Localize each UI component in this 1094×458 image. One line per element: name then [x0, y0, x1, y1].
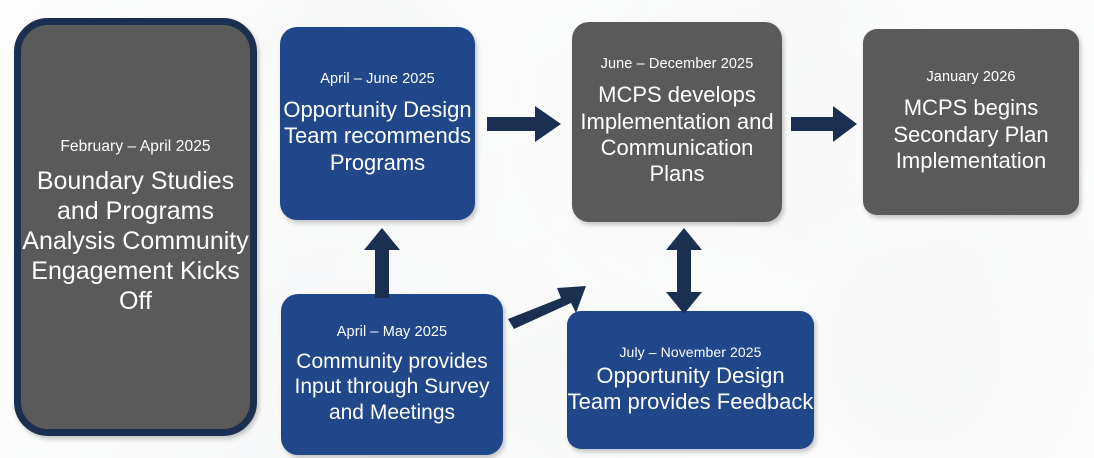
node-date-label: April – May 2025: [337, 324, 447, 341]
node-body-text: Community provides Input through Survey …: [281, 349, 503, 425]
arrow-right-icon-mcps-to-begins: [791, 103, 859, 145]
node-date-label: January 2026: [926, 69, 1015, 86]
node-boundary-studies-kickoff[interactable]: February – April 2025 Boundary Studies a…: [14, 18, 257, 436]
arrow-up-down-icon-mcps-to-feedback: [664, 228, 704, 314]
node-body-text: MCPS begins Secondary Plan Implementatio…: [863, 95, 1079, 174]
node-date-label: April – June 2025: [320, 71, 435, 88]
node-odt-provides-feedback[interactable]: July – November 2025 Opportunity Design …: [567, 311, 814, 449]
node-body-text: Boundary Studies and Programs Analysis C…: [21, 166, 250, 316]
arrow-diagonal-up-right-icon-input-to-feedback: [506, 281, 588, 331]
timeline-diagram: February – April 2025 Boundary Studies a…: [0, 0, 1094, 458]
node-mcps-begins-implementation[interactable]: January 2026 MCPS begins Secondary Plan …: [863, 29, 1079, 215]
arrow-up-icon-input-to-odt: [362, 228, 402, 300]
node-body-text: Opportunity Design Team provides Feedbac…: [567, 363, 814, 416]
node-date-label: February – April 2025: [60, 138, 210, 156]
node-body-text: Opportunity Design Team recommends Progr…: [280, 97, 475, 176]
node-community-provides-input[interactable]: April – May 2025 Community provides Inpu…: [281, 294, 503, 455]
node-date-label: July – November 2025: [619, 344, 761, 361]
arrow-right-icon-odt-to-mcps: [487, 103, 563, 145]
node-mcps-develops-plans[interactable]: June – December 2025 MCPS develops Imple…: [572, 22, 782, 222]
node-body-text: MCPS develops Implementation and Communi…: [572, 82, 782, 188]
node-odt-recommends-programs[interactable]: April – June 2025 Opportunity Design Tea…: [280, 27, 475, 220]
node-date-label: June – December 2025: [601, 56, 754, 73]
